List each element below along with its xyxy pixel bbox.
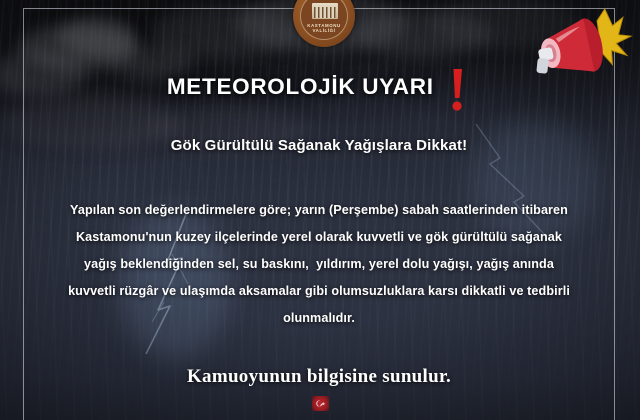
body-line: kuvvetli rüzgâr ve ulaşımda aksamalar gi… [23, 278, 615, 305]
title-row: METEOROLOJİK UYARI [23, 66, 615, 108]
turkish-flag-icon [312, 396, 329, 411]
body-line: Yapılan son değerlendirmelere göre; yarı… [23, 197, 615, 224]
body-line: Kastamonu'nun kuzey ilçelerinde yerel ol… [23, 224, 615, 251]
warning-body: Yapılan son değerlendirmelere göre; yarı… [23, 197, 615, 332]
closing-statement: Kamuoyunun bilgisine sunulur. [23, 366, 615, 388]
body-line: olunmalıdır. [23, 305, 615, 332]
meteorological-warning-poster: KASTAMONU VALİLİĞİ METEOROLOJİK UYARI [0, 0, 640, 420]
poster-content: METEOROLOJİK UYARI Gök Gürültülü Sağanak… [23, 8, 615, 420]
exclamation-mark-icon [445, 69, 471, 111]
page-title: METEOROLOJİK UYARI [167, 74, 434, 100]
body-line: yağış beklendiğinden sel, su baskını, yı… [23, 251, 615, 278]
subtitle: Gök Gürültülü Sağanak Yağışlara Dikkat! [23, 137, 615, 154]
